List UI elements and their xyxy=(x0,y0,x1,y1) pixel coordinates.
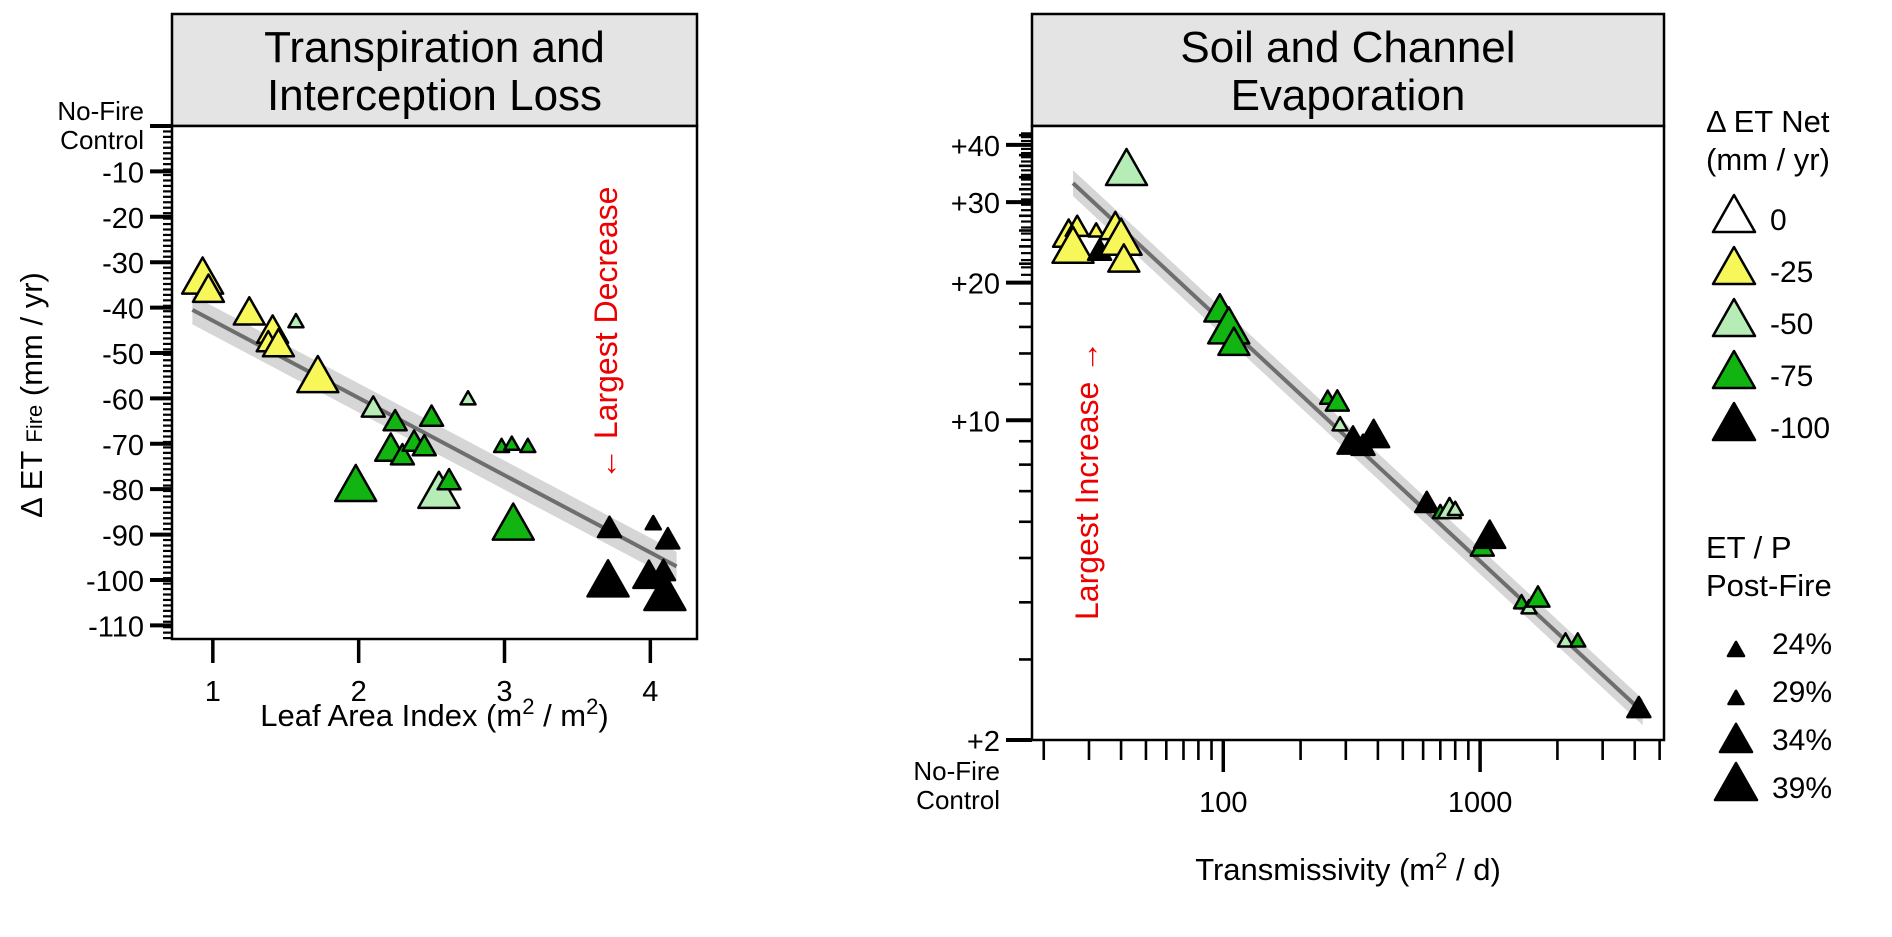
left-annotation-label: ← Largest Decrease xyxy=(588,187,624,480)
legend-size-label: 29% xyxy=(1772,676,1832,709)
right-x-axis-title: Transmissivity (m2 / d) xyxy=(1195,848,1501,887)
legend-size-swatch-2 xyxy=(1720,724,1752,752)
legend-color-title-line1: Δ ET Net xyxy=(1706,104,1830,139)
legend-color-swatch-1 xyxy=(1713,247,1755,284)
legend-size-title-line1: ET / P xyxy=(1706,530,1792,565)
left-y-tick-label: -60 xyxy=(102,384,144,416)
legend-size-swatch-1 xyxy=(1729,691,1744,704)
left-x-axis-title: Leaf Area Index (m2 / m2) xyxy=(260,694,608,733)
left-x-tick-label: 1 xyxy=(205,676,221,708)
legend-color-label: -25 xyxy=(1770,256,1813,289)
right-annotation-label: Largest Increase → xyxy=(1069,341,1105,620)
legend-size-title-line2: Post-Fire xyxy=(1706,568,1832,603)
legend-color-label: -100 xyxy=(1770,412,1830,445)
left-y-tick-label: -90 xyxy=(102,521,144,553)
left-y-tick-label-control: Control xyxy=(60,125,144,155)
legend-size-label: 39% xyxy=(1772,772,1832,805)
right-x-tick-label: 100 xyxy=(1199,787,1247,819)
left-panel-title-line2: Interception Loss xyxy=(267,71,602,120)
legend-color-swatch-2 xyxy=(1713,299,1755,336)
left-y-tick-label: -110 xyxy=(88,611,144,643)
left-y-tick-label: -10 xyxy=(102,157,144,189)
legend-size-swatch-0 xyxy=(1728,642,1744,656)
right-y-tick-label: +40 xyxy=(951,131,1000,163)
legend-color-label: -75 xyxy=(1770,360,1813,393)
right-y-tick-label: +10 xyxy=(951,406,1000,438)
legend-color-title-line2: (mm / yr) xyxy=(1706,142,1830,177)
left-y-tick-label: -70 xyxy=(102,430,144,462)
right-panel-title-line2: Evaporation xyxy=(1231,71,1466,120)
left-x-tick-label: 4 xyxy=(642,676,658,708)
left-y-tick-label: -20 xyxy=(102,203,144,235)
legend-size-entry[interactable]: 29% xyxy=(1729,676,1833,709)
figure-root: Transpiration andInterception LossNo-Fir… xyxy=(0,0,1892,937)
right-x-tick-label: 1000 xyxy=(1448,787,1513,819)
right-y-bottom-label-line1: No-Fire xyxy=(913,756,1000,786)
left-y-tick-label-nofire: No-Fire xyxy=(57,96,144,126)
legend-color-entry[interactable]: -25 xyxy=(1713,247,1813,289)
scatter-figure: Transpiration andInterception LossNo-Fir… xyxy=(0,0,1892,937)
legend-color-entry[interactable]: -50 xyxy=(1713,299,1813,341)
right-y-bottom-label-line2: Control xyxy=(916,785,1000,815)
left-y-tick-label: -100 xyxy=(86,566,144,598)
right-y-tick-label: +2 xyxy=(967,726,1000,758)
legend-size-entry[interactable]: 24% xyxy=(1728,628,1832,661)
left-panel-title-line1: Transpiration and xyxy=(264,23,605,72)
left-y-tick-label: -30 xyxy=(102,248,144,280)
left-y-axis-title: Δ ET Fire (mm / yr) xyxy=(14,272,49,518)
legend-size-entry[interactable]: 39% xyxy=(1715,763,1832,805)
right-panel-title-line1: Soil and Channel xyxy=(1180,23,1515,72)
left-y-tick-label: -80 xyxy=(102,475,144,507)
legend-size-label: 24% xyxy=(1772,628,1832,661)
legend-color-entry[interactable]: -100 xyxy=(1713,403,1830,445)
legend-color-label: 0 xyxy=(1770,204,1787,237)
legend-color-entry[interactable]: -75 xyxy=(1713,351,1813,393)
legend-color-swatch-3 xyxy=(1713,351,1755,388)
left-y-tick-label: -50 xyxy=(102,339,144,371)
right-y-tick-label: +30 xyxy=(951,188,1000,220)
left-y-tick-label: -40 xyxy=(102,294,144,326)
legend-color-label: -50 xyxy=(1770,308,1813,341)
legend-color-swatch-4 xyxy=(1713,403,1755,440)
right-annotation: Largest Increase → xyxy=(1069,341,1105,620)
legend-color-entry[interactable]: 0 xyxy=(1713,195,1787,237)
left-y-axis-title-text: Δ ET Fire (mm / yr) xyxy=(14,272,49,518)
legend-size-entry[interactable]: 34% xyxy=(1720,724,1832,757)
right-y-tick-label: +20 xyxy=(951,269,1000,301)
legend-size-label: 34% xyxy=(1772,724,1832,757)
left-annotation: ← Largest Decrease xyxy=(588,187,624,480)
legend-size-swatch-3 xyxy=(1715,763,1757,800)
legend-color-swatch-0 xyxy=(1713,195,1755,232)
